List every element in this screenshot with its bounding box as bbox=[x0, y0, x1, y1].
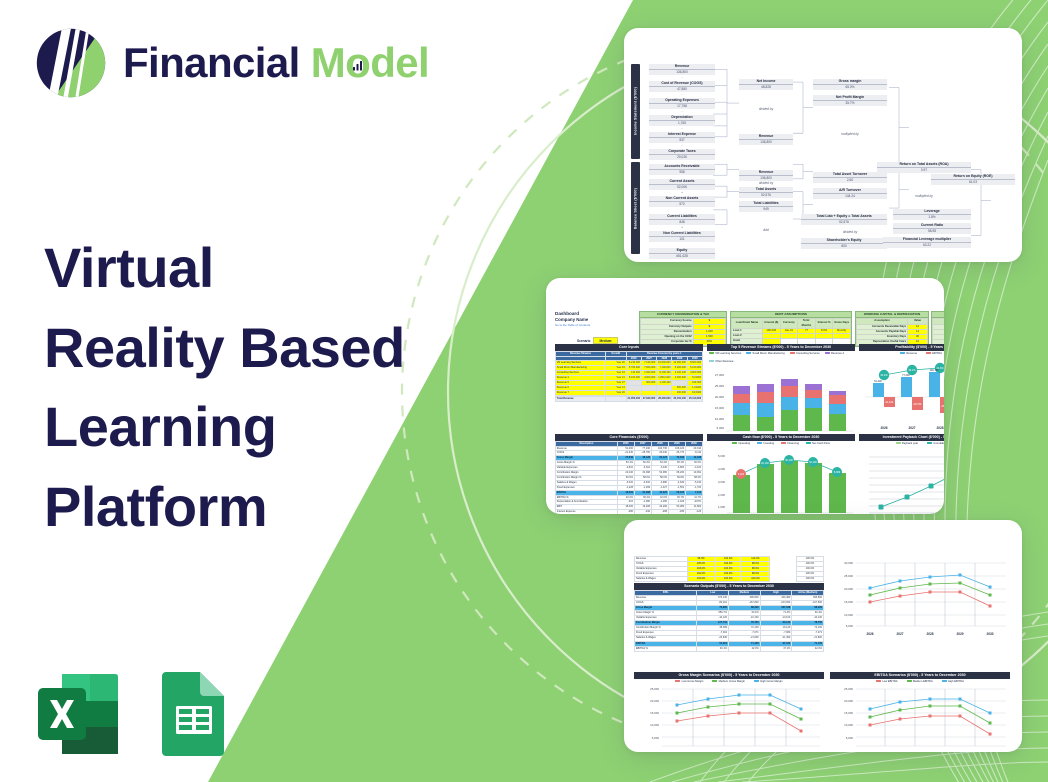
tree-node: Equity #51,628 bbox=[649, 248, 715, 259]
operator-plus: + bbox=[649, 190, 715, 194]
screenshot-card-scenarios[interactable]: Revenue98.0%100.0%110.0%100.0% COGS105.0… bbox=[624, 520, 1022, 752]
operator-divided-by: divided by bbox=[739, 107, 793, 111]
tree-node: Total Asset Turnover 2.60 bbox=[813, 172, 887, 183]
currency-table: Currency Source$ Currency Outputs$ Denom… bbox=[640, 318, 726, 345]
svg-text:4,000: 4,000 bbox=[718, 467, 725, 471]
debt-table: Loan/Grant Name Amount ($) Currency Term… bbox=[731, 318, 851, 344]
key-metrics-table: NPVValue Return on Equity (ROE)61.08% In… bbox=[932, 318, 944, 345]
brand-name-part1: Financial bbox=[123, 39, 300, 86]
scenario-summary-line-chart: 30,00025,00020,000 15,00010,0005,000 202… bbox=[830, 556, 1010, 640]
screenshot-card-ratio-tree[interactable]: Income Statement ($'000) Balance Sheet (… bbox=[624, 28, 1022, 262]
tree-node: Net Profit Margin 35.7% bbox=[813, 95, 887, 106]
svg-text:5,000: 5,000 bbox=[716, 426, 724, 430]
panel-scenario-outputs: Scenario Outputs ($'000) - 5 Years to De… bbox=[634, 583, 824, 652]
svg-text:30,100: 30,100 bbox=[785, 459, 793, 462]
scenario-selector[interactable]: Scenario Medium bbox=[577, 337, 618, 344]
svg-text:2029: 2029 bbox=[956, 632, 963, 636]
page-title: Virtual Reality Based Learning Platform bbox=[44, 228, 474, 546]
operator-minus: - bbox=[649, 75, 715, 79]
tree-node: Total Liabilities 949 bbox=[739, 201, 793, 212]
ebitda-line-chart: 25,00020,00015,000 10,0005,000 202620272… bbox=[830, 683, 1010, 752]
payback-line-chart: 72,00070,00060,000 50,00040,00030,000 20… bbox=[859, 445, 944, 514]
operator-minus: - bbox=[649, 126, 715, 130]
operator-multiplied-by: multiplied by bbox=[813, 132, 887, 136]
core-inputs-table: Revenue Streams Growth Revenue Forecast … bbox=[555, 351, 703, 402]
title-line-3: Learning bbox=[44, 387, 474, 467]
title-line-4: Platform bbox=[44, 467, 474, 547]
assumption-panel-key-metrics: KEY METRICS NPVValue Return on Equity (R… bbox=[931, 311, 944, 347]
svg-text:15,000: 15,000 bbox=[650, 711, 659, 715]
core-financials-table: Description 2026 2027 2028 2029 2030 Rev… bbox=[555, 441, 703, 514]
scenario-inputs-table: Revenue98.0%100.0%110.0%100.0% COGS105.0… bbox=[634, 556, 824, 582]
brand-name-part3: del bbox=[370, 39, 429, 86]
svg-text:32,100: 32,100 bbox=[809, 461, 817, 464]
scenario-body: Revenue98.0%100.0%110.0%100.0% COGS105.0… bbox=[634, 556, 1012, 728]
brand-logo: Financial Model bbox=[33, 25, 429, 101]
google-sheets-icon[interactable] bbox=[152, 668, 236, 760]
cashflow-chart: 5,0004,0003,000 2,0001,000(1,000) bbox=[707, 445, 855, 514]
working-capital-table: AssumptionValue Accounts Receivable Days… bbox=[856, 318, 928, 345]
svg-text:30,000: 30,000 bbox=[844, 561, 853, 565]
panel-cash-flow: Cash flow ($'000) - 5 Years to December … bbox=[707, 434, 855, 514]
supported-formats-icons bbox=[32, 668, 236, 760]
svg-text:51,400: 51,400 bbox=[874, 380, 882, 383]
svg-text:2028: 2028 bbox=[926, 632, 933, 636]
tree-node: Shareholder's Equity 800 bbox=[801, 238, 887, 249]
svg-text:2028: 2028 bbox=[936, 426, 943, 430]
svg-text:25,000: 25,000 bbox=[844, 687, 853, 691]
panel-core-financials: Core Financials ($'000) Description 2026… bbox=[555, 434, 703, 514]
gross-margin-line-chart: 25,00020,00015,000 10,0005,000 202620272… bbox=[634, 683, 824, 752]
operator-divided-by: divided by bbox=[813, 230, 887, 234]
svg-text:10,000: 10,000 bbox=[844, 723, 853, 727]
svg-text:20,000: 20,000 bbox=[844, 699, 853, 703]
operator-divided-by: divided by bbox=[739, 181, 793, 185]
tree-node: Current Assets 52,006 bbox=[649, 179, 715, 190]
svg-text:77,040: 77,040 bbox=[902, 374, 910, 377]
svg-text:5,000: 5,000 bbox=[718, 454, 725, 458]
tree-node: Revenue 136,800 bbox=[649, 64, 715, 75]
svg-text:100,730: 100,730 bbox=[929, 369, 939, 372]
svg-text:3,000: 3,000 bbox=[718, 480, 725, 484]
tree-node: Current Ratio 58.98 bbox=[893, 223, 971, 234]
slide-canvas: Financial Model Virtual Reality Based Le… bbox=[0, 0, 1048, 782]
brand-name-o-with-chart: o bbox=[345, 42, 370, 84]
revenue-stacked-bar-chart: 27,00025,000 20,00015,000 10,0005,000 bbox=[707, 363, 855, 440]
tree-node: Return on Total Assets (ROA) 0.97 bbox=[877, 162, 971, 173]
svg-text:25,000: 25,000 bbox=[844, 574, 853, 578]
svg-text:1,000: 1,000 bbox=[718, 505, 725, 509]
svg-text:5,000: 5,000 bbox=[846, 624, 854, 628]
tree-node: Current Liabilities 848 bbox=[649, 214, 715, 225]
operator-minus: - bbox=[649, 143, 715, 147]
panel-ebitda-scenarios: EBITDA Scenarios ($'000) - 5 Years to De… bbox=[830, 672, 1010, 752]
tree-node: Revenue 136,800 bbox=[739, 170, 793, 181]
operator-multiplied-by: multiplied by bbox=[877, 194, 971, 198]
dashboard-toc-link[interactable]: Go to the Table of Contents bbox=[555, 323, 627, 328]
title-line-2: Reality Based bbox=[44, 308, 474, 388]
screenshot-card-dashboard[interactable]: Dashboard Company Name Go to the Table o… bbox=[546, 278, 944, 514]
svg-text:2030: 2030 bbox=[986, 632, 993, 636]
svg-text:20,000: 20,000 bbox=[844, 587, 853, 591]
svg-text:8,366: 8,366 bbox=[834, 471, 841, 474]
operator-plus: + bbox=[649, 225, 715, 229]
tree-node: Net Income 48,828 bbox=[739, 79, 793, 90]
svg-text:-36,040: -36,040 bbox=[941, 405, 944, 408]
revenue-legend: VR Learning Services Small Room Manufact… bbox=[707, 351, 855, 363]
mini-bar-chart-icon bbox=[351, 58, 364, 71]
tree-node: Total Assets 52,576 bbox=[739, 187, 793, 198]
tree-node: Cost of Revenue (COGS) 47,880 bbox=[649, 81, 715, 92]
tree-node: A/R Turnover 144.24 bbox=[813, 188, 887, 199]
scenario-label: Scenario bbox=[577, 339, 590, 343]
assumption-panel-working-capital: WORKING CAPITAL & DEPRECIATION Assumptio… bbox=[855, 311, 929, 347]
panel-gross-margin-scenarios: Gross Margin Scenarios ($'000) - 5 Years… bbox=[634, 672, 824, 752]
svg-text:10,000: 10,000 bbox=[650, 723, 659, 727]
svg-text:2,000: 2,000 bbox=[718, 493, 725, 497]
dashboard-body: Dashboard Company Name Go to the Table o… bbox=[555, 311, 936, 488]
tree-node: Corporate Taxes 20,026 bbox=[649, 149, 715, 160]
operator-minus: - bbox=[649, 109, 715, 113]
svg-text:2027: 2027 bbox=[908, 426, 915, 430]
tree-node: Non Current Liabilities 101 bbox=[649, 231, 715, 242]
svg-text:10,000: 10,000 bbox=[844, 613, 853, 617]
assumption-panel-currency: CURRENCY DENOMINATION & TAX Currency Sou… bbox=[639, 311, 727, 347]
svg-text:25,000: 25,000 bbox=[715, 384, 725, 388]
tree-node: Accounts Receivable 958 bbox=[649, 164, 715, 175]
pie-bar-chart-circle-logo-icon bbox=[33, 25, 109, 101]
operator-add: Add bbox=[739, 228, 793, 232]
tree-node: Non Current Assets 570 bbox=[649, 196, 715, 207]
svg-text:40.2%: 40.2% bbox=[880, 373, 888, 377]
tree-node: Gross margin 65.0% bbox=[813, 79, 887, 90]
panel-profitability: Profitability ($'000) - 5 Years to Decem… bbox=[859, 344, 944, 432]
brand-name: Financial Model bbox=[123, 42, 429, 84]
tree-node: Total Liab + Equity = Total Assets 52,57… bbox=[801, 214, 887, 225]
ratio-tree-diagram: Income Statement ($'000) Balance Sheet (… bbox=[631, 62, 1016, 240]
brand-name-part2: M bbox=[311, 39, 345, 86]
title-line-1: Virtual bbox=[44, 228, 474, 308]
panel-core-inputs: Core Inputs Revenue Streams Growth Reven… bbox=[555, 344, 703, 402]
tree-node-roe: Return on Equity (ROE) 61.03 bbox=[931, 174, 1015, 185]
svg-text:-28,780: -28,780 bbox=[913, 403, 922, 406]
svg-text:2027: 2027 bbox=[896, 632, 903, 636]
svg-text:39.1%: 39.1% bbox=[908, 368, 916, 372]
microsoft-excel-icon[interactable] bbox=[32, 668, 124, 760]
tree-node: Financial Leverage multiplier 63.22 bbox=[883, 237, 971, 248]
scenario-outputs-table: KPIs Low Medium High Active (Medium) Rev… bbox=[634, 590, 824, 652]
assumption-panel-debt: DEBT ASSUMPTIONS Loan/Grant Name Amount … bbox=[730, 311, 852, 346]
scenario-value[interactable]: Medium bbox=[593, 337, 617, 344]
panel-investment-payback: Investment Payback Chart ($'000) - 5 Yea… bbox=[859, 434, 944, 514]
svg-text:5,000: 5,000 bbox=[846, 736, 854, 740]
svg-text:15,000: 15,000 bbox=[844, 600, 853, 604]
svg-text:25,000: 25,000 bbox=[650, 687, 659, 691]
svg-text:20,000: 20,000 bbox=[650, 699, 659, 703]
svg-text:5,000: 5,000 bbox=[652, 736, 660, 740]
operator-minus: - bbox=[649, 92, 715, 96]
svg-text:27,000: 27,000 bbox=[715, 373, 725, 377]
dashboard-brand: Dashboard Company Name Go to the Table o… bbox=[555, 311, 627, 328]
panel-top-revenue-streams: Top 5 Revenue Streams ($'000) - 5 Years … bbox=[707, 344, 855, 440]
tree-node: Interest Expense 537 bbox=[649, 132, 715, 143]
svg-text:-21,640: -21,640 bbox=[885, 401, 894, 404]
tree-node: Depreciation 1,765 bbox=[649, 115, 715, 126]
tree-node: Leverage 1.8% bbox=[893, 209, 971, 220]
svg-text:20,102: 20,102 bbox=[761, 462, 769, 465]
profitability-combo-chart: 40.2%39.1%42.0% 45.7%41.7% 51,40077,0401… bbox=[859, 355, 944, 432]
tree-node: Operating Expenses 17,758 bbox=[649, 98, 715, 109]
svg-text:15,000: 15,000 bbox=[715, 406, 725, 410]
svg-text:8,404: 8,404 bbox=[738, 473, 745, 476]
svg-text:20,000: 20,000 bbox=[715, 395, 725, 399]
svg-text:2026: 2026 bbox=[880, 426, 887, 430]
scenario-inputs-table-wrap: Revenue98.0%100.0%110.0%100.0% COGS105.0… bbox=[634, 556, 824, 582]
svg-text:10,000: 10,000 bbox=[715, 417, 725, 421]
svg-text:2026: 2026 bbox=[866, 632, 873, 636]
tree-node: Revenue 136,800 bbox=[739, 134, 793, 145]
svg-text:15,000: 15,000 bbox=[844, 711, 853, 715]
